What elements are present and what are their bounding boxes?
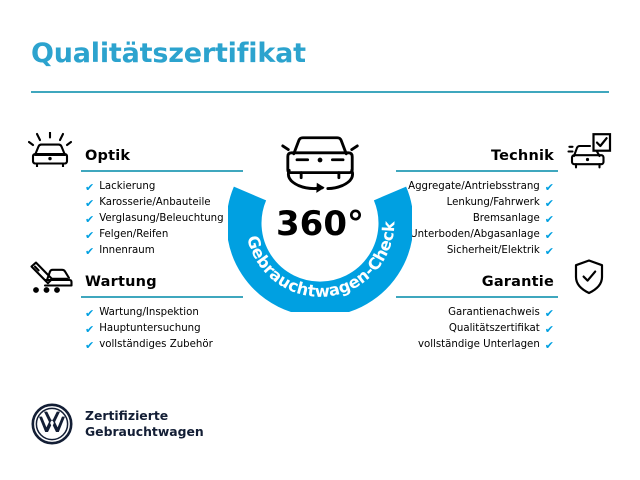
list-item-label: vollständige Unterlagen: [418, 337, 540, 353]
list-item-label: Bremsanlage: [473, 211, 540, 227]
list-item-label: Garantienachweis: [448, 305, 540, 321]
section-wartung: Wartung ✔Wartung/Inspektion ✔Hauptunters…: [28, 258, 243, 292]
list-item-label: Lenkung/Fahrwerk: [447, 195, 540, 211]
list-item: ✔Innenraum: [28, 243, 243, 259]
list-item: Sicherheit/Elektrik✔: [397, 243, 612, 259]
check-icon: ✔: [85, 182, 94, 193]
checklist-optik: ✔Lackierung ✔Karosserie/Anbauteile ✔Verg…: [28, 179, 243, 259]
list-item: Unterboden/Abgasanlage✔: [397, 227, 612, 243]
list-item-label: Unterboden/Abgasanlage: [410, 227, 540, 243]
list-item: Qualitätszertifikat✔: [397, 321, 612, 337]
section-heading: Wartung: [85, 274, 157, 290]
list-item-label: Wartung/Inspektion: [99, 305, 199, 321]
check-icon: ✔: [545, 308, 554, 319]
check-icon: ✔: [85, 308, 94, 319]
list-item-label: Lackierung: [99, 179, 155, 195]
section-heading: Optik: [85, 148, 130, 164]
list-item: ✔Verglasung/Beleuchtung: [28, 211, 243, 227]
list-item: Garantienachweis✔: [397, 305, 612, 321]
list-item: vollständige Unterlagen✔: [397, 337, 612, 353]
brand-footer: Zertifizierte Gebrauchtwagen: [31, 403, 204, 445]
brand-line-2: Gebrauchtwagen: [85, 424, 204, 439]
section-divider: [81, 296, 243, 298]
badge-center-label: 360°: [276, 204, 364, 244]
list-item: ✔Hauptuntersuchung: [28, 321, 243, 337]
check-icon: ✔: [85, 214, 94, 225]
list-item-label: Sicherheit/Elektrik: [447, 243, 540, 259]
section-divider: [396, 296, 558, 298]
badge-360-gebrauchtwagen-check: 360° Gebrauchtwagen-Check: [228, 122, 412, 312]
page-title: Qualitätszertifikat: [31, 38, 306, 69]
list-item: Aggregate/Antriebsstrang✔: [397, 179, 612, 195]
list-item: ✔vollständiges Zubehör: [28, 337, 243, 353]
list-item-label: vollständiges Zubehör: [99, 337, 213, 353]
checklist-wartung: ✔Wartung/Inspektion ✔Hauptuntersuchung ✔…: [28, 305, 243, 353]
car-shine-icon: [28, 132, 74, 170]
check-icon: ✔: [545, 182, 554, 193]
car-wrench-icon: [28, 258, 74, 296]
check-icon: ✔: [545, 246, 554, 257]
list-item: ✔Lackierung: [28, 179, 243, 195]
section-heading: Garantie: [482, 274, 554, 290]
list-item-label: Felgen/Reifen: [99, 227, 168, 243]
list-item-label: Aggregate/Antriebsstrang: [408, 179, 540, 195]
section-divider: [81, 170, 243, 172]
section-header-optik: Optik: [28, 132, 243, 166]
list-item: ✔Wartung/Inspektion: [28, 305, 243, 321]
list-item-label: Qualitätszertifikat: [449, 321, 540, 337]
check-icon: ✔: [85, 246, 94, 257]
checklist-garantie: Garantienachweis✔ Qualitätszertifikat✔ v…: [397, 305, 612, 353]
check-icon: ✔: [85, 340, 94, 351]
list-item: Bremsanlage✔: [397, 211, 612, 227]
car-checkbox-icon: [566, 132, 612, 170]
check-icon: ✔: [545, 214, 554, 225]
check-icon: ✔: [85, 324, 94, 335]
shield-check-icon: [566, 258, 612, 296]
section-header-technik: Technik: [397, 132, 612, 166]
vw-logo-icon: [31, 403, 73, 445]
title-divider: [31, 91, 609, 93]
section-divider: [396, 170, 558, 172]
list-item: Lenkung/Fahrwerk✔: [397, 195, 612, 211]
check-icon: ✔: [545, 340, 554, 351]
section-optik: Optik ✔Lackierung ✔Karosserie/Anbauteile…: [28, 132, 243, 166]
check-icon: ✔: [545, 324, 554, 335]
check-icon: ✔: [85, 230, 94, 241]
section-header-wartung: Wartung: [28, 258, 243, 292]
section-technik: Technik Aggregate/Antriebsstrang✔ Lenkun…: [397, 132, 612, 166]
section-garantie: Garantie Garantienachweis✔ Qualitätszert…: [397, 258, 612, 292]
brand-footer-text: Zertifizierte Gebrauchtwagen: [85, 408, 204, 440]
list-item-label: Karosserie/Anbauteile: [99, 195, 210, 211]
brand-line-1: Zertifizierte: [85, 408, 168, 423]
checklist-technik: Aggregate/Antriebsstrang✔ Lenkung/Fahrwe…: [397, 179, 612, 259]
check-icon: ✔: [545, 230, 554, 241]
list-item: ✔Karosserie/Anbauteile: [28, 195, 243, 211]
list-item-label: Hauptuntersuchung: [99, 321, 200, 337]
section-heading: Technik: [491, 148, 554, 164]
list-item-label: Verglasung/Beleuchtung: [99, 211, 223, 227]
section-header-garantie: Garantie: [397, 258, 612, 292]
check-icon: ✔: [545, 198, 554, 209]
list-item: ✔Felgen/Reifen: [28, 227, 243, 243]
list-item-label: Innenraum: [99, 243, 154, 259]
car-rotate-icon: [283, 138, 358, 193]
check-icon: ✔: [85, 198, 94, 209]
